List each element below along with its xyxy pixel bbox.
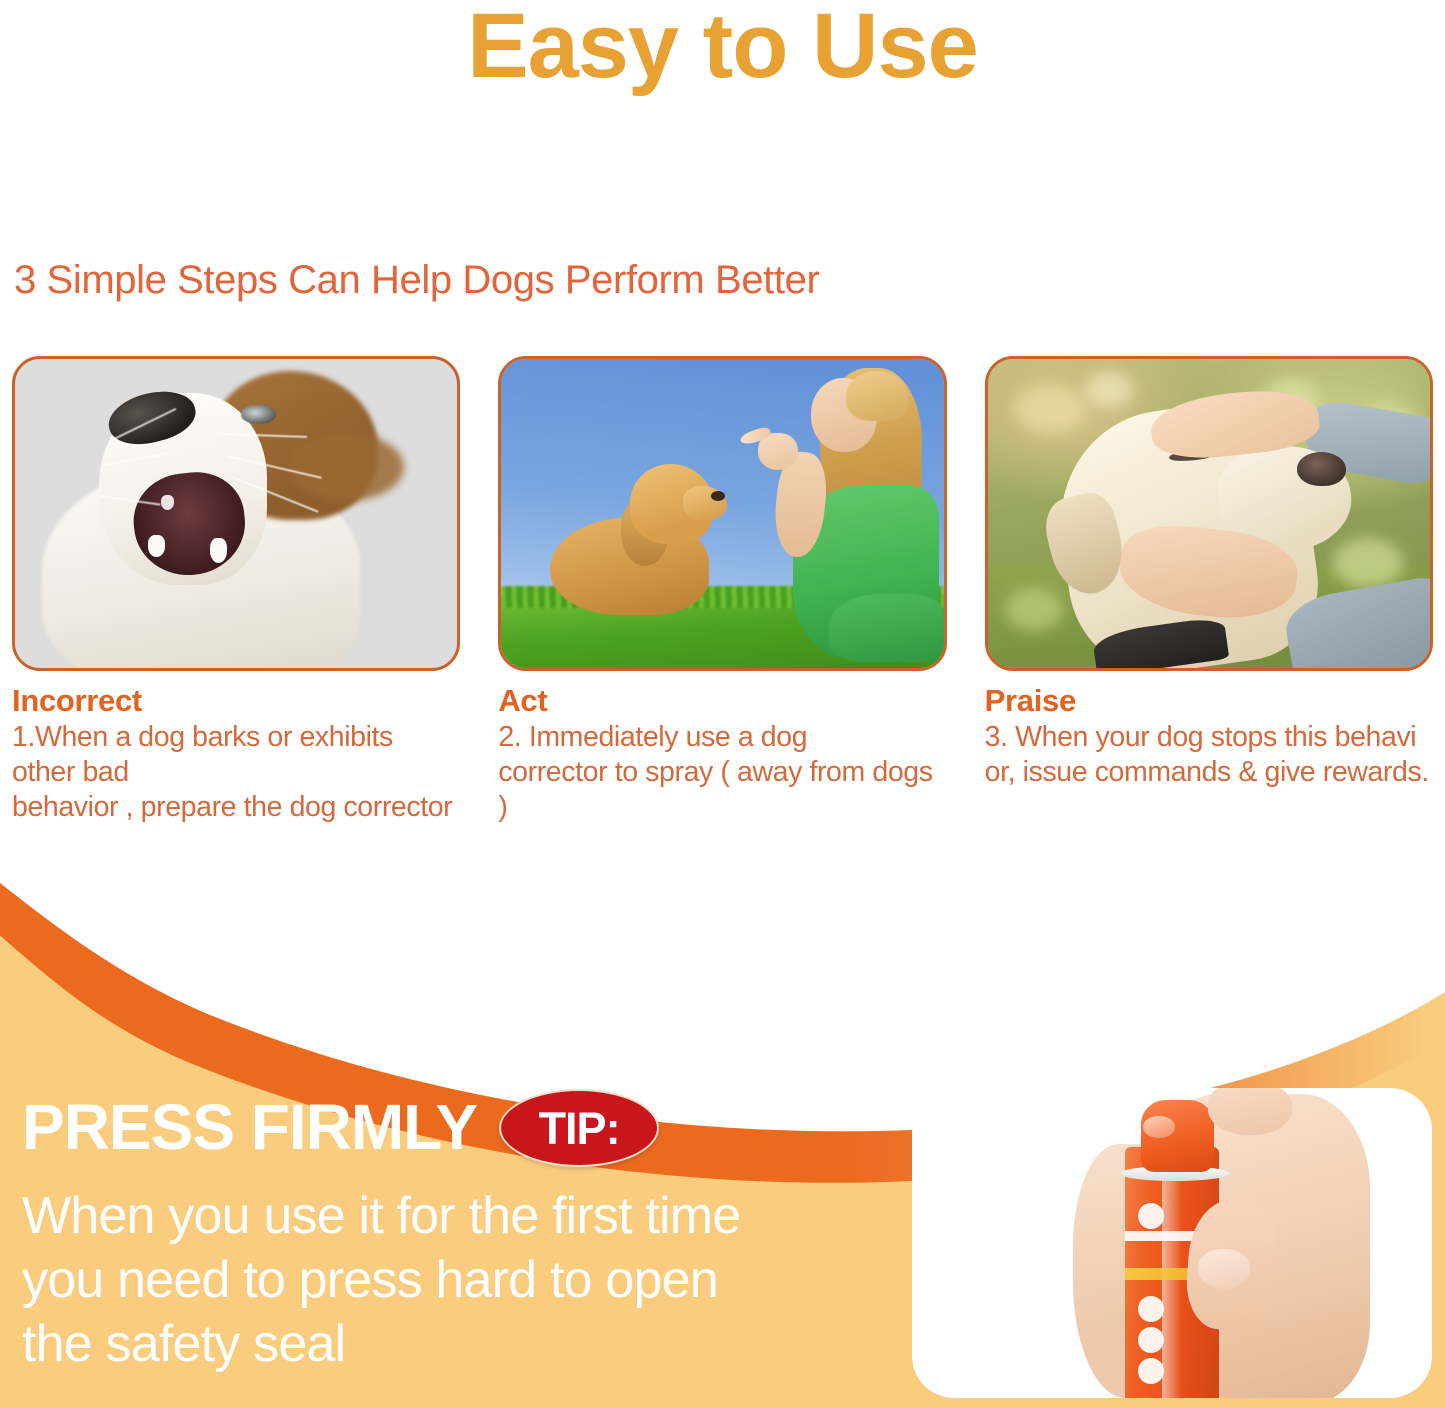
tip-badge-label: TIP: [539,1106,620,1151]
barking-dog-photo [12,356,460,671]
page-title: Easy to Use [0,0,1445,99]
press-firmly-banner: PRESS FIRMLY TIP: When you use it for th… [0,845,1445,1408]
step-card-praise: Praise 3. When your dog stops this behav… [985,356,1433,825]
steps-section: 3 Simple Steps Can Help Dogs Perform Bet… [0,258,1445,303]
step-body: 1.When a dog barks or exhibits other bad… [12,720,460,825]
hand-pressing-spray-can-photo [912,1088,1432,1398]
step-heading: Act [498,683,946,719]
step-card-incorrect: Incorrect 1.When a dog barks or exhibits… [12,356,460,825]
spray-can-illustration [912,1088,1432,1398]
press-firmly-title: PRESS FIRMLY [22,1095,477,1159]
press-firmly-body: When you use it for the first time you n… [22,1185,852,1377]
petting-dog-photo [985,356,1433,671]
step-body: 3. When your dog stops this behavi or, i… [985,720,1433,790]
step-heading: Incorrect [12,683,460,719]
tip-badge: TIP: [499,1089,659,1167]
woman-commanding-dog-photo [498,356,946,671]
step-heading: Praise [985,683,1433,719]
step-body: 2. Immediately use a dog corrector to sp… [498,720,946,825]
steps-row: Incorrect 1.When a dog barks or exhibits… [0,356,1445,825]
steps-subtitle: 3 Simple Steps Can Help Dogs Perform Bet… [14,258,1445,303]
step-card-act: Act 2. Immediately use a dog corrector t… [498,356,946,825]
press-firmly-row: PRESS FIRMLY TIP: [22,1087,659,1167]
